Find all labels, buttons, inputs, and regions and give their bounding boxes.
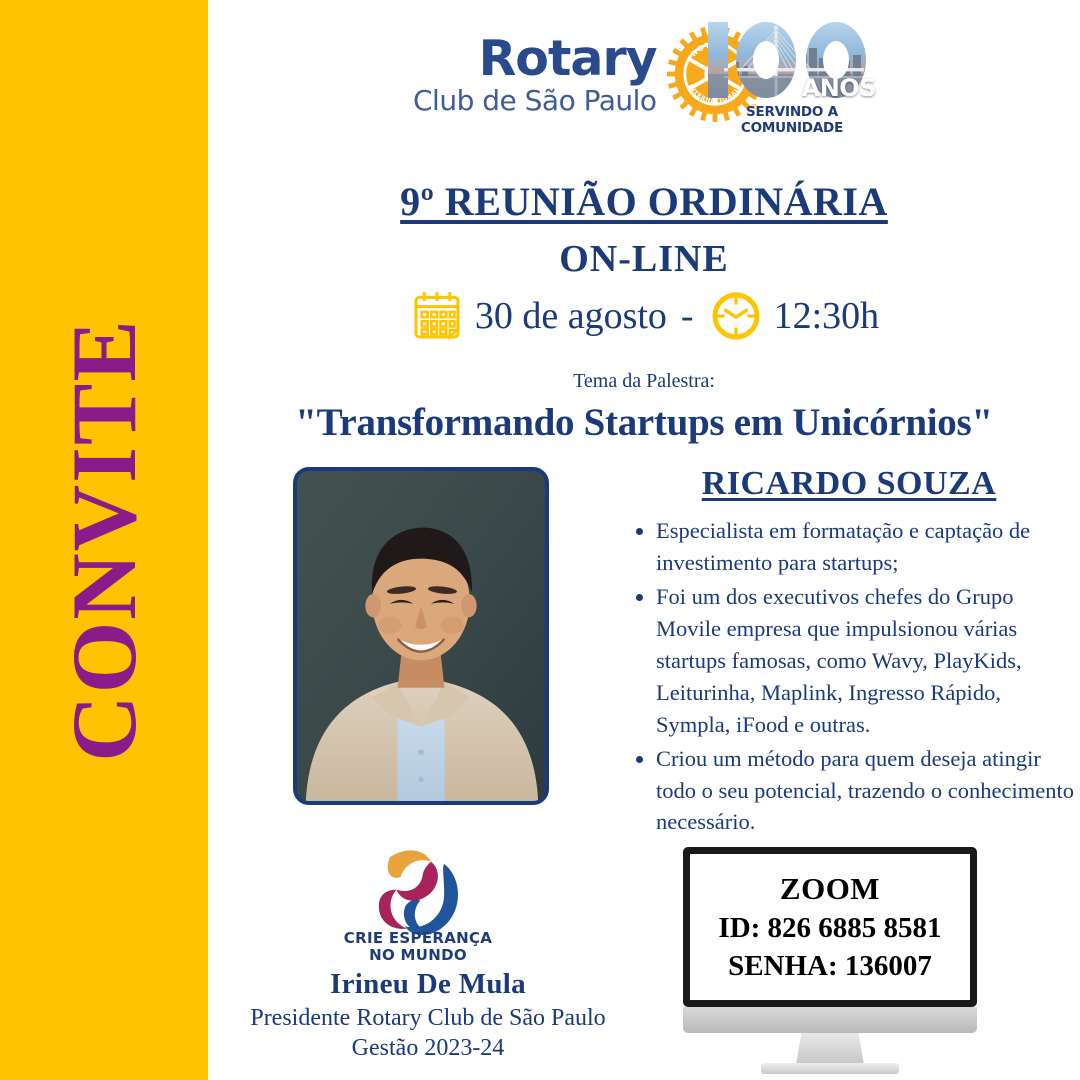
speaker-name: RICARDO SOUZA bbox=[618, 465, 1080, 503]
speaker-block: RICARDO SOUZA Especialista em formatação… bbox=[618, 465, 1080, 840]
meeting-time: 12:30h bbox=[774, 294, 880, 338]
title-block: 9º REUNIÃO ORDINÁRIA ON-LINE bbox=[208, 178, 1080, 281]
monitor-stand-foot bbox=[761, 1063, 899, 1074]
list-item: Foi um dos executivos chefes do Grupo Mo… bbox=[656, 581, 1080, 741]
rotary-brand-name: Rotary bbox=[413, 34, 657, 83]
convite-sidebar: CONVITE bbox=[0, 0, 208, 1080]
centenary-anos-label: ANOS bbox=[802, 74, 876, 102]
datetime-separator: - bbox=[677, 294, 698, 338]
list-item: Especialista em formatação e captação de… bbox=[656, 515, 1080, 579]
speaker-portrait-image bbox=[297, 471, 545, 801]
calendar-icon bbox=[409, 288, 465, 344]
zoom-title: ZOOM bbox=[780, 871, 880, 907]
meeting-date: 30 de agosto bbox=[475, 294, 667, 338]
meeting-title: 9º REUNIÃO ORDINÁRIA bbox=[208, 178, 1080, 225]
monitor-stand-neck bbox=[796, 1033, 864, 1065]
president-name: Irineu De Mula bbox=[208, 968, 648, 1001]
main-content: Rotary Club de São Paulo bbox=[208, 0, 1080, 1080]
rotary-club-name: Club de São Paulo bbox=[413, 87, 657, 115]
centenary-tagline: SERVINDO A COMUNIDADE bbox=[702, 104, 882, 136]
clock-icon bbox=[708, 288, 764, 344]
monitor-screen: ZOOM ID: 826 6885 8581 SENHA: 136007 bbox=[683, 847, 977, 1007]
theme-tagline-line1: CRIE ESPERANÇA bbox=[303, 930, 533, 947]
president-role: Presidente Rotary Club de São Paulo bbox=[208, 1005, 648, 1032]
header: Rotary Club de São Paulo bbox=[208, 8, 1080, 138]
theme-logo-tagline: CRIE ESPERANÇA NO MUNDO bbox=[303, 930, 533, 965]
monitor-base-bar bbox=[683, 1007, 977, 1033]
theme-tagline-line2: NO MUNDO bbox=[303, 947, 533, 964]
meeting-mode: ON-LINE bbox=[208, 237, 1080, 281]
convite-label: CONVITE bbox=[51, 318, 157, 761]
talk-label: Tema da Palestra: bbox=[208, 370, 1080, 393]
rotary-wordmark: Rotary Club de São Paulo bbox=[413, 34, 657, 115]
president-term: Gestão 2023-24 bbox=[208, 1035, 648, 1062]
datetime-row: 30 de agosto - 12:30h bbox=[208, 288, 1080, 344]
zoom-monitor-graphic: ZOOM ID: 826 6885 8581 SENHA: 136007 bbox=[683, 847, 977, 1007]
zoom-password: SENHA: 136007 bbox=[728, 950, 932, 983]
speaker-portrait bbox=[293, 467, 549, 805]
zoom-meeting-id: ID: 826 6885 8581 bbox=[718, 912, 941, 945]
talk-title: "Transformando Startups em Unicórnios" bbox=[208, 400, 1080, 445]
speaker-bio-list: Especialista em formatação e captação de… bbox=[618, 515, 1080, 838]
president-credit: Irineu De Mula Presidente Rotary Club de… bbox=[208, 968, 648, 1062]
list-item: Criou um método para quem deseja atingir… bbox=[656, 743, 1080, 839]
centenary-badge: ANOS SERVINDO A COMUNIDADE bbox=[702, 18, 882, 130]
